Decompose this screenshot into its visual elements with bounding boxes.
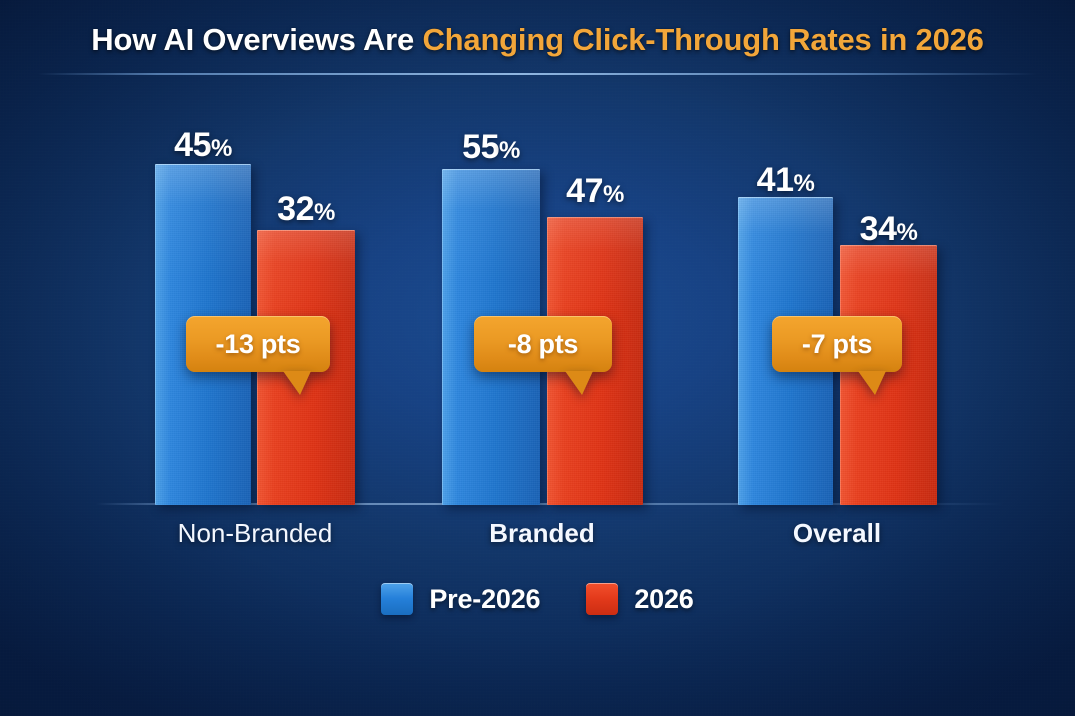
- legend-swatch-blue-icon: [381, 583, 413, 615]
- percent-sign: %: [793, 170, 814, 197]
- callout-branded-delta[interactable]: -8 pts: [474, 316, 612, 372]
- callout-label: -8 pts: [508, 329, 578, 360]
- percent-sign: %: [603, 181, 624, 208]
- callout-non-branded-delta[interactable]: -13 pts: [186, 316, 330, 372]
- legend-label-pre-2026: Pre-2026: [429, 584, 540, 615]
- value-number: 41: [757, 161, 794, 199]
- legend-item-pre-2026[interactable]: Pre-2026: [381, 583, 540, 615]
- value-number: 32: [277, 190, 314, 228]
- value-number: 34: [860, 210, 897, 248]
- value-label-non-branded-2026: 32%: [257, 190, 355, 229]
- value-label-overall-pre-2026: 41%: [738, 161, 833, 200]
- callout-tail: [565, 371, 593, 395]
- value-label-branded-pre-2026: 55%: [442, 128, 540, 167]
- percent-sign: %: [314, 199, 335, 226]
- value-number: 47: [566, 172, 603, 210]
- value-label-overall-2026: 34%: [840, 210, 937, 249]
- percent-sign: %: [499, 137, 520, 164]
- callout-label: -13 pts: [216, 329, 301, 360]
- value-number: 45: [174, 126, 211, 164]
- callout-tail: [858, 371, 886, 395]
- percent-sign: %: [211, 135, 232, 162]
- callout-label: -7 pts: [802, 329, 872, 360]
- chart-legend: Pre-2026 2026: [0, 583, 1075, 615]
- value-label-branded-2026: 47%: [547, 172, 643, 211]
- legend-label-2026: 2026: [634, 584, 693, 615]
- category-label-branded: Branded: [422, 518, 662, 549]
- category-label-overall: Overall: [717, 518, 957, 549]
- bar-texture: [840, 245, 937, 505]
- legend-swatch-red-icon: [586, 583, 618, 615]
- percent-sign: %: [896, 219, 917, 246]
- legend-item-2026[interactable]: 2026: [586, 583, 693, 615]
- bar-overall-2026[interactable]: [840, 245, 937, 505]
- value-label-non-branded-pre-2026: 45%: [155, 126, 251, 165]
- value-number: 55: [462, 128, 499, 166]
- infographic-chart-canvas: How AI Overviews Are Changing Click-Thro…: [0, 0, 1075, 716]
- category-label-non-branded: Non-Branded: [135, 518, 375, 549]
- callout-tail: [283, 371, 311, 395]
- callout-overall-delta[interactable]: -7 pts: [772, 316, 902, 372]
